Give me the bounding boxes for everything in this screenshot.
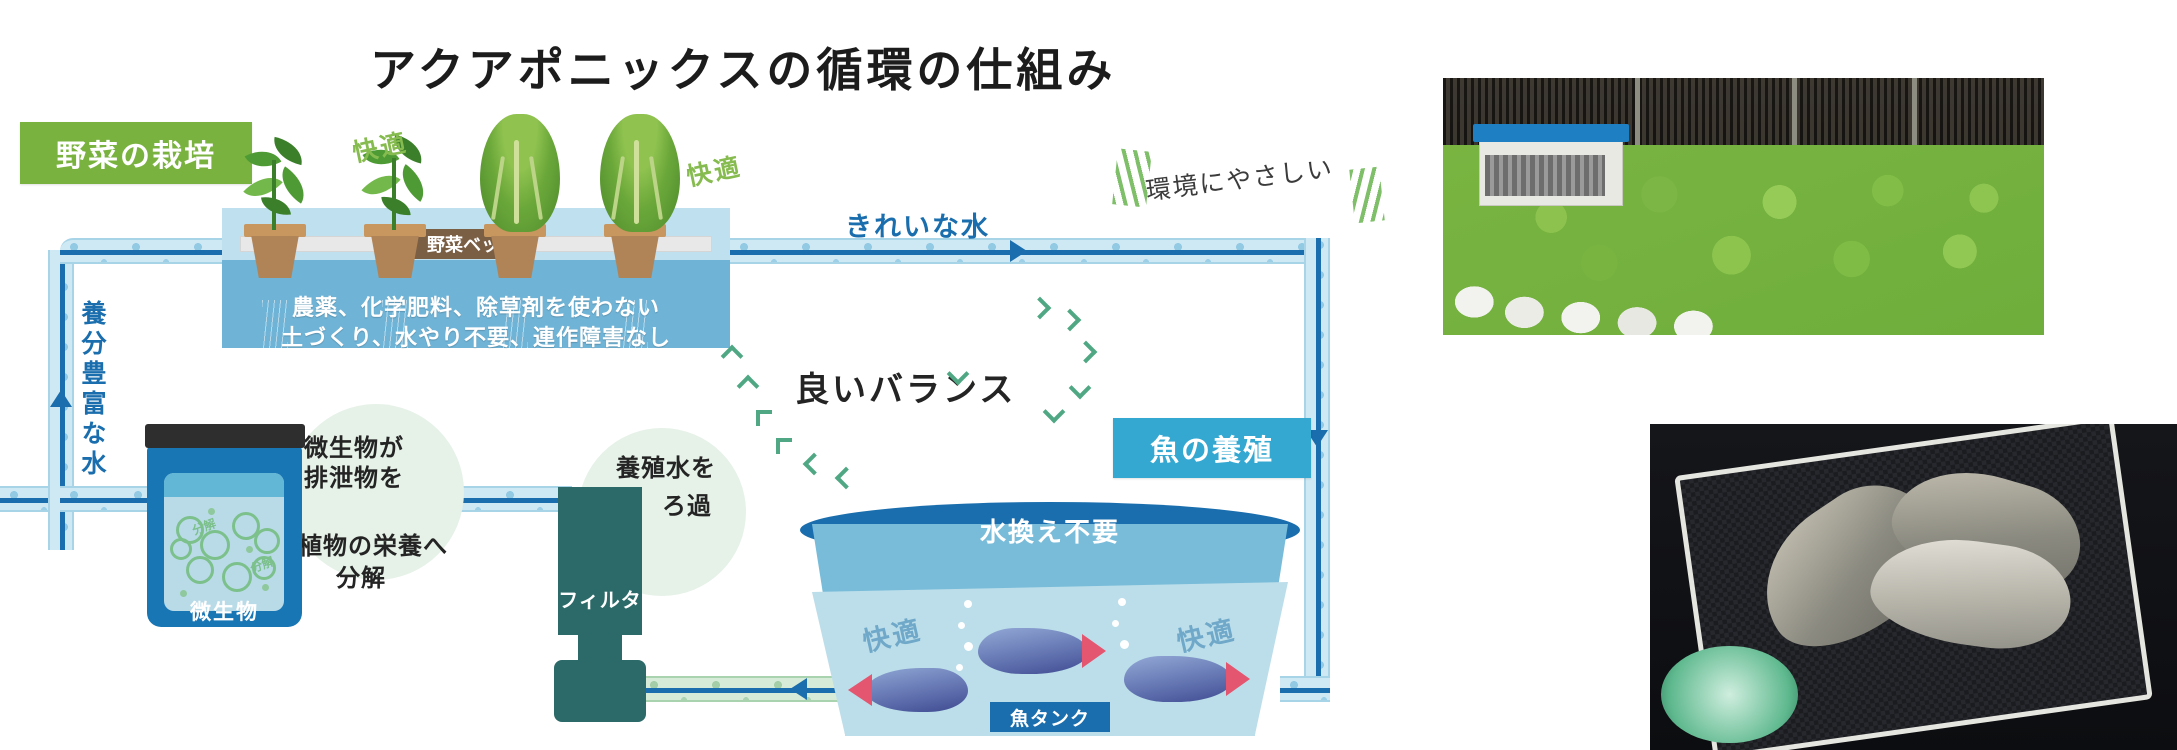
vegetable-bed-note-2: 土づくり、水やり不要、連作障害なし (222, 320, 730, 352)
comfort-label-veg-right: 快適 (683, 147, 745, 194)
plant-stem (392, 158, 396, 230)
infographic-canvas: アクアポニックスの循環の仕組み (0, 0, 2177, 750)
green-net-bundle (1661, 646, 1798, 744)
photo-tilapia-harvest[interactable] (1650, 424, 2177, 750)
microbe-tank-water-surface (164, 473, 284, 497)
pipe-left-elbow-bottom (60, 486, 120, 512)
balance-chevron-icon (776, 438, 792, 454)
pipe-core (1280, 688, 1330, 693)
pipe-top-left (60, 238, 230, 264)
eco-friendly-label: 環境にやさしい (1144, 149, 1336, 208)
microbe-note-bottom-line2: 分解 (336, 558, 386, 593)
badge-vegetable-cultivation[interactable]: 野菜の栽培 (20, 122, 252, 184)
fish-tank-label: 魚タンク (990, 702, 1110, 732)
lettuce-vein (634, 140, 639, 224)
pipe-core (1316, 238, 1321, 688)
microbe-cell (186, 556, 214, 584)
flow-arrow-up-left (50, 390, 72, 407)
clean-water-label: きれいな水 (845, 205, 990, 244)
microbe-tank-label: 微生物 (147, 596, 302, 626)
microbe-cell (170, 538, 192, 560)
balance-chevron-icon (1069, 377, 1092, 400)
microbe-cell (254, 528, 280, 554)
no-water-change-label: 水換え不要 (800, 512, 1300, 549)
lettuce-vein (514, 140, 519, 224)
plant-leaf (393, 164, 433, 202)
balance-chevron-icon (1059, 309, 1082, 332)
tank-bubble (964, 600, 972, 608)
vegetable-bed-note-1: 農薬、化学肥料、除草剤を使わない (222, 290, 730, 322)
tank-bubble (1120, 640, 1129, 649)
balance-chevron-icon (756, 410, 772, 426)
flow-arrow-right-top (1010, 240, 1027, 262)
pipe-core (730, 250, 1330, 255)
pipe-top-right (730, 238, 1330, 264)
pipe-core (60, 250, 230, 255)
microbe-cell (222, 562, 252, 592)
pipe-bundle (1485, 155, 1605, 196)
microbe-dot (262, 584, 269, 591)
tank-fish (1124, 656, 1232, 702)
balance-chevron-icon (737, 375, 760, 398)
tank-bubble (1118, 598, 1126, 606)
filter-base (554, 660, 646, 722)
tank-bubble (964, 642, 973, 651)
microbe-dot (246, 546, 253, 553)
net-pot-row (1443, 248, 1756, 335)
good-balance-label: 良いバランス (795, 362, 1016, 411)
tank-fish (978, 628, 1088, 674)
photo-lettuce-greenhouse[interactable] (1443, 78, 2044, 335)
balance-chevron-icon (1043, 401, 1066, 424)
filter-label: フィルタ (558, 584, 642, 613)
microbe-note-top-line2: 排泄物を (304, 458, 404, 493)
balance-chevron-icon (835, 467, 858, 490)
pipe-bottom-right (1280, 676, 1330, 702)
badge-fish-farming[interactable]: 魚の養殖 (1113, 418, 1311, 478)
microbe-note-bottom-line1: 植物の栄養へ (298, 526, 448, 561)
balance-chevron-icon (803, 453, 826, 476)
pipe-bottom-green (640, 676, 840, 702)
pipe-core (60, 498, 120, 503)
balance-chevron-icon (1075, 341, 1098, 364)
equipment-box-lid (1473, 124, 1629, 142)
microbe-tank-lid (145, 424, 305, 448)
tank-fish (866, 668, 968, 712)
tank-bubble (958, 622, 965, 629)
nutrient-rich-water-label: 養分豊富な水 (74, 300, 110, 480)
filter-note-line2: ろ過 (662, 486, 712, 521)
comfort-label-veg-left: 快適 (349, 123, 411, 170)
filter-note-line1: 養殖水を (616, 448, 716, 483)
balance-chevron-icon (1029, 297, 1052, 320)
tank-bubble (956, 664, 963, 671)
eco-hash-left (1112, 148, 1152, 207)
eco-hash-right (1349, 167, 1384, 224)
flow-arrow-left-bottom (790, 678, 807, 700)
pipe-core (640, 688, 840, 693)
tank-bubble (1112, 620, 1119, 627)
plant-stem (272, 160, 276, 230)
page-title: アクアポニックスの循環の仕組み (370, 34, 1170, 100)
